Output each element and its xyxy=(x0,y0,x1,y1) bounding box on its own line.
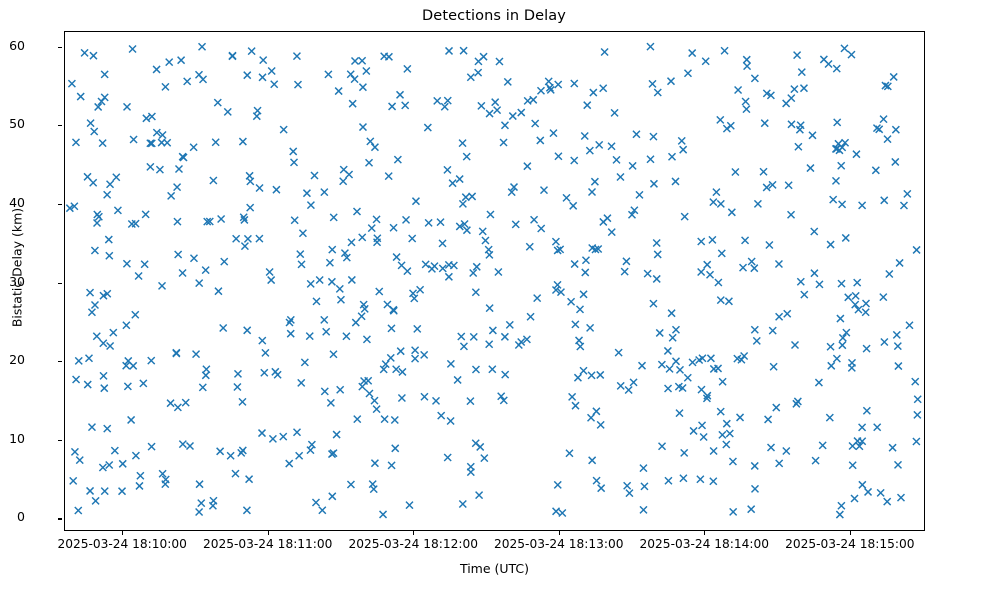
y-tick-label: 60 xyxy=(0,38,25,53)
y-tick-mark xyxy=(58,518,62,519)
x-tick-label: 2025-03-24 18:12:00 xyxy=(333,537,493,551)
y-tick-mark xyxy=(58,361,62,362)
plot-area xyxy=(64,31,925,531)
marker-group xyxy=(66,43,921,518)
y-tick-label: 20 xyxy=(0,352,25,367)
x-tick-label: 2025-03-24 18:13:00 xyxy=(479,537,639,551)
x-tick-mark xyxy=(559,531,560,535)
y-tick-label: 30 xyxy=(0,274,25,289)
x-tick-label: 2025-03-24 18:11:00 xyxy=(188,537,348,551)
x-axis-label: Time (UTC) xyxy=(64,561,925,576)
page-title: Detections in Delay xyxy=(0,8,988,24)
y-tick-label: 50 xyxy=(0,116,25,131)
x-tick-label: 2025-03-24 18:14:00 xyxy=(624,537,784,551)
x-tick-mark xyxy=(704,531,705,535)
y-tick-label: 10 xyxy=(0,431,25,446)
figure-canvas: Detections in Delay Bistatic Delay (km) … xyxy=(0,0,988,590)
y-tick-label: 40 xyxy=(0,195,25,210)
y-tick-mark xyxy=(58,440,62,441)
x-tick-label: 2025-03-24 18:10:00 xyxy=(42,537,202,551)
y-tick-label: 0 xyxy=(0,509,25,524)
x-tick-label: 2025-03-24 18:15:00 xyxy=(770,537,930,551)
y-tick-mark xyxy=(58,125,62,126)
x-tick-mark xyxy=(413,531,414,535)
y-tick-mark xyxy=(58,283,62,284)
y-tick-mark xyxy=(58,47,62,48)
x-tick-mark xyxy=(850,531,851,535)
x-tick-mark xyxy=(122,531,123,535)
x-tick-mark xyxy=(268,531,269,535)
y-tick-mark xyxy=(58,204,62,205)
scatter-series xyxy=(65,32,926,532)
